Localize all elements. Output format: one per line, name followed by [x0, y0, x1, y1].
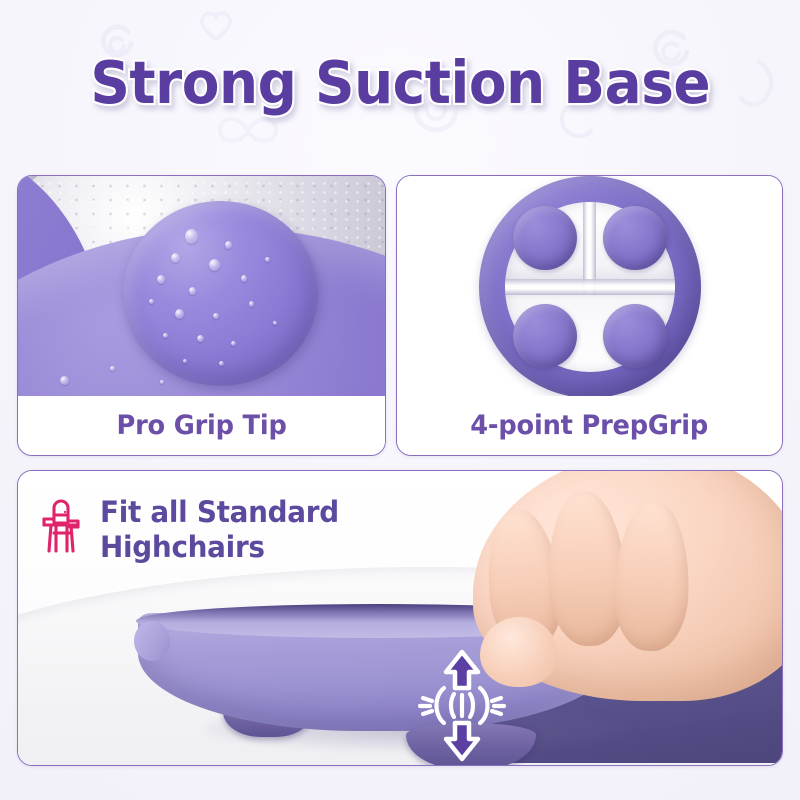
- bowl-lip: [134, 621, 170, 661]
- pro-grip-tip-photo: [18, 176, 385, 398]
- highchair-callout: Fit all Standard Highchairs: [40, 495, 349, 566]
- highchair-icon: [40, 499, 84, 560]
- grip-pad-top-right: [603, 206, 667, 270]
- product-feature-card: Strong Suction Base: [0, 0, 800, 800]
- water-droplets: [123, 201, 318, 386]
- highchair-label-line2: Highchairs: [100, 530, 339, 565]
- thumb-tip: [480, 617, 558, 687]
- panel-caption-prepgrip: 4-point PrepGrip: [397, 396, 782, 455]
- feature-panel-highchair[interactable]: Fit all Standard Highchairs: [17, 470, 783, 766]
- suction-cup-right: [406, 723, 536, 765]
- caption-text: 4-point PrepGrip: [471, 410, 709, 441]
- feature-panel-prepgrip[interactable]: 4-point PrepGrip: [396, 175, 783, 456]
- suction-ring: [479, 176, 701, 398]
- panel-caption-pro-grip: Pro Grip Tip: [18, 396, 385, 455]
- grip-pad-bottom-right: [603, 304, 667, 368]
- feature-panel-pro-grip[interactable]: Pro Grip Tip: [17, 175, 386, 456]
- caption-text: Pro Grip Tip: [116, 410, 286, 441]
- header: Strong Suction Base: [0, 0, 800, 165]
- page-title: Strong Suction Base: [90, 48, 710, 117]
- grip-pad-top-left: [513, 206, 577, 270]
- glass-seam-horizontal: [505, 279, 675, 295]
- highchair-label-line1: Fit all Standard: [100, 495, 339, 530]
- highchair-label: Fit all Standard Highchairs: [100, 495, 349, 566]
- pro-grip-tip-nub: [123, 201, 318, 386]
- grip-pad-bottom-left: [513, 304, 577, 368]
- prepgrip-photo: [397, 176, 782, 398]
